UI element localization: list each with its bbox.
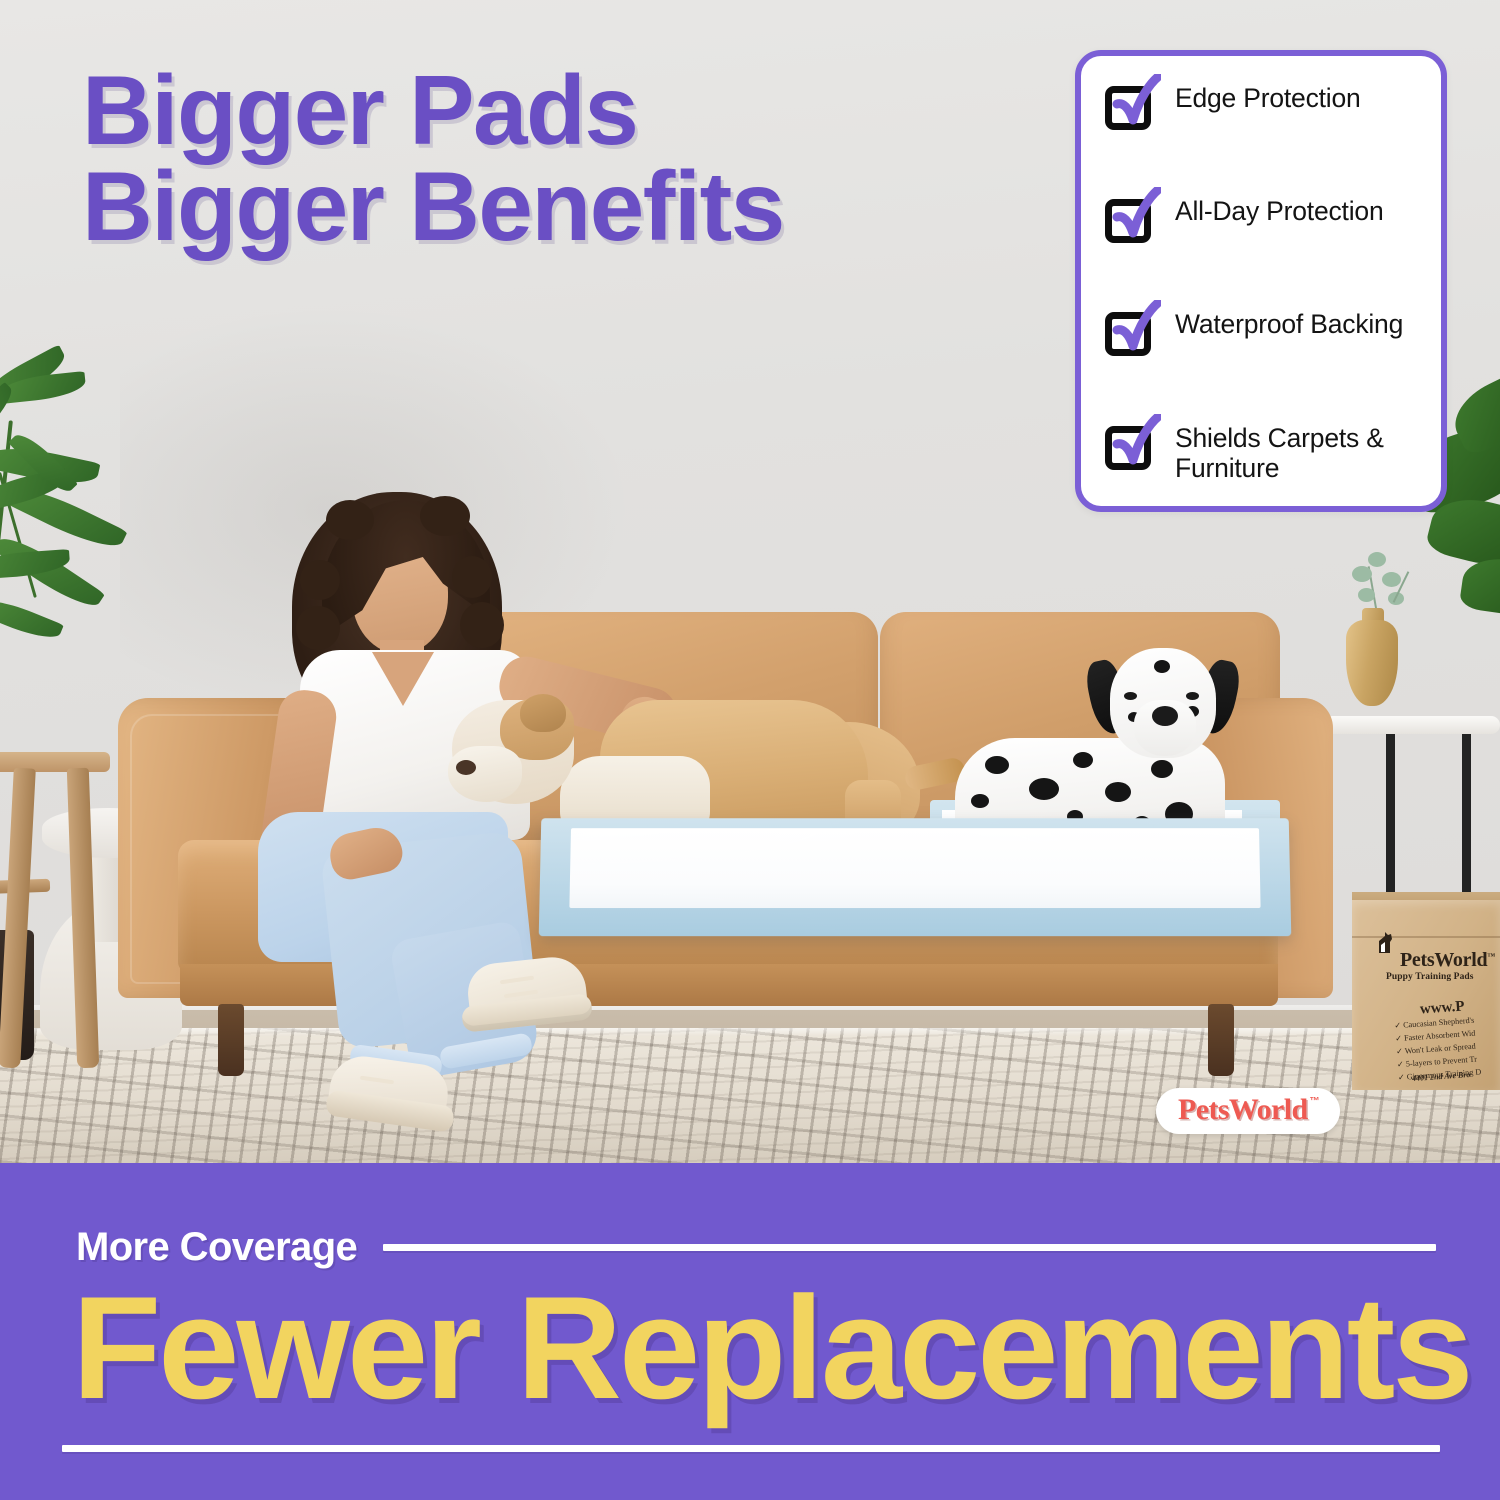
product-marketing-image: PetsWorld™ Puppy Training Pads www.P ✓ C… [0,0,1500,1500]
headline-line-2: Bigger Benefits [82,158,784,254]
dalmatian-eye-left [1124,692,1137,700]
box-brand-name: PetsWorld [1400,949,1487,971]
feature-checklist-card: Edge Protection All-Day Protection Water… [1075,50,1447,512]
bulldog-ear [520,694,566,732]
checkbox-checked-icon [1103,195,1159,247]
box-brand-tm: ™ [1487,951,1495,960]
checkbox-checked-icon [1103,422,1159,474]
banner-divider-bottom [62,1445,1440,1452]
feature-item: Waterproof Backing [1103,308,1423,360]
sofa-leg [218,1004,244,1076]
eucalyptus-leaf [1368,552,1386,567]
brand-name: PetsWorld [1178,1095,1308,1125]
sofa-leg [1208,1004,1234,1076]
checkbox-checked-icon [1103,82,1159,134]
dalmatian-eye-right [1186,692,1199,700]
headline-line-1: Bigger Pads [82,62,784,158]
feature-label: Waterproof Backing [1175,308,1403,340]
banner-divider-top [383,1244,1436,1251]
training-pad-main [539,818,1292,936]
eucalyptus-leaf [1358,588,1375,602]
feature-label: Edge Protection [1175,82,1361,114]
bulldog-nose [456,760,476,775]
banner-subtitle-row: More Coverage [76,1225,1436,1270]
feature-item: Edge Protection [1103,82,1423,134]
bulldog-snout [448,746,522,802]
eucalyptus-leaf [1382,572,1401,587]
eucalyptus-leaf [1352,566,1372,582]
feature-label: All-Day Protection [1175,195,1383,227]
banner-subtitle: More Coverage [76,1225,357,1270]
feature-label: Shields Carpets & Furniture [1175,422,1423,484]
checkbox-checked-icon [1103,308,1159,360]
box-brand-block: PetsWorld™ Puppy Training Pads [1372,950,1500,982]
bottom-banner: More Coverage Fewer Replacements [0,1163,1500,1500]
petsworld-logo-badge: PetsWorld ™ [1156,1088,1340,1134]
feature-item: Shields Carpets & Furniture [1103,422,1423,484]
feature-item: All-Day Protection [1103,195,1423,247]
box-brand-subtitle: Puppy Training Pads [1386,972,1500,982]
side-table-top [1324,716,1500,734]
wooden-vase [1346,620,1398,706]
page-headline: Bigger Pads Bigger Benefits [82,62,784,254]
dalmatian-nose [1152,706,1178,726]
training-pad-core [569,828,1260,908]
banner-headline: Fewer Replacements [72,1275,1452,1421]
trademark-symbol: ™ [1310,1096,1320,1107]
